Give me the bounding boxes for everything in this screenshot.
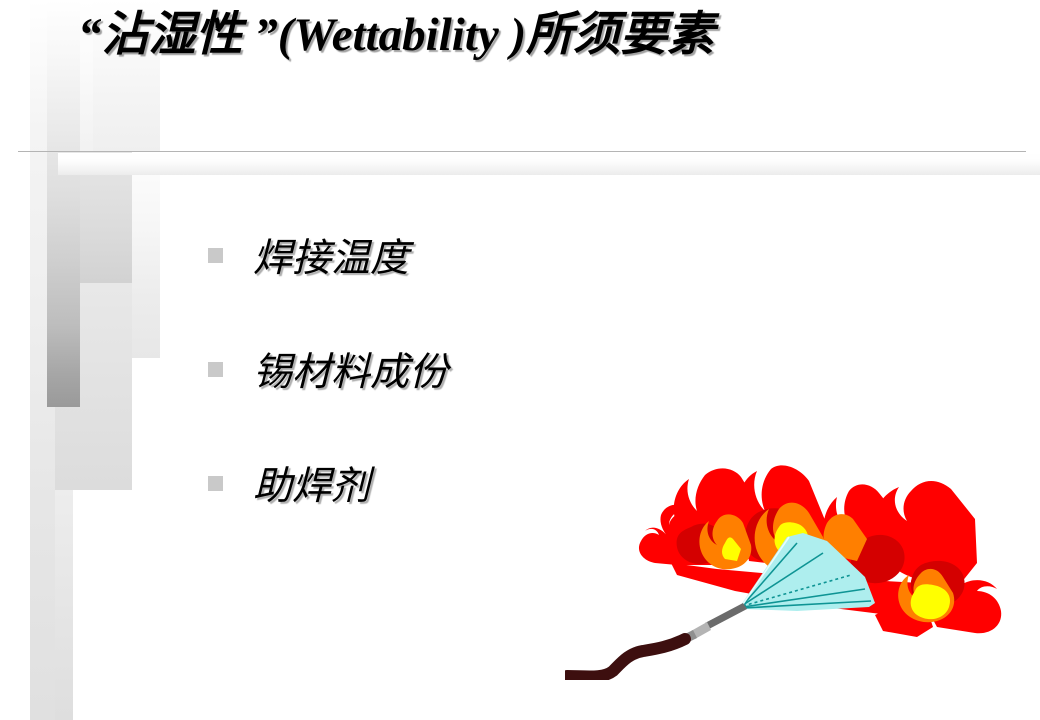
square-bullet-icon (208, 362, 223, 377)
square-bullet-icon (208, 248, 223, 263)
bullet-label-3: 助焊剂 (253, 455, 370, 511)
sidebar-decor-tail-bar (55, 490, 73, 720)
sidebar-decor-accent-bar (47, 0, 80, 407)
slide-title: “沾湿性 ”(Wettability )所须要素 (78, 1, 1018, 70)
bullet-label-1: 焊接温度 (253, 227, 409, 283)
flame-yellow-core-far-right (911, 584, 950, 619)
sidebar-decor-outer-column (30, 0, 55, 720)
bullet-label-2: 锡材料成份 (253, 341, 448, 397)
header-divider-line (18, 151, 1026, 152)
header-divider-band (58, 153, 1040, 175)
bullet-item-1: 焊接温度 (208, 198, 908, 312)
sidebar-decor-upper-panel (80, 158, 160, 358)
square-bullet-icon (208, 476, 223, 491)
bullet-item-2: 锡材料成份 (208, 312, 908, 426)
blowtorch-flame-illustration (565, 465, 1015, 680)
sidebar-decor-lower-block (55, 283, 132, 490)
sidebar-decor-mid-column (55, 0, 93, 490)
torch-nozzle-barrel-dark (705, 603, 747, 629)
torch-nozzle-group (683, 603, 747, 643)
torch-hose (567, 639, 685, 677)
presentation-slide: “沾湿性 ”(Wettability )所须要素 焊接温度 锡材料成份 助焊剂 (0, 0, 1040, 720)
